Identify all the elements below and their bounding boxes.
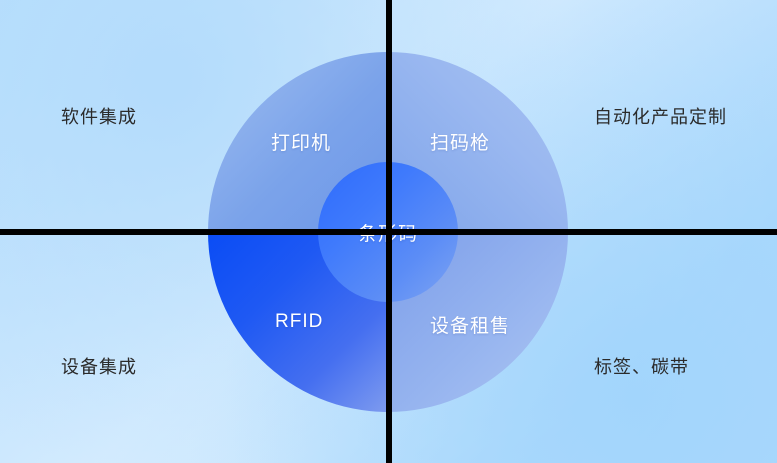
quadrant-label-printer: 打印机 (271, 128, 331, 155)
diagram-canvas: 条形码 打印机 扫码枪 RFID 设备租售 软件集成 自动化产品定制 设备集成 … (0, 0, 777, 463)
quadrant-label-equipment-rental: 设备租售 (430, 311, 510, 338)
quadrant-label-scanner: 扫码枪 (430, 128, 490, 155)
quadrant-label-rfid: RFID (275, 311, 323, 333)
outer-label-software-integration: 软件集成 (61, 103, 137, 129)
horizontal-axis-line (0, 229, 777, 235)
outer-label-automation-customization: 自动化产品定制 (594, 103, 727, 129)
outer-label-device-integration: 设备集成 (61, 353, 137, 379)
outer-label-labels-ribbons: 标签、碳带 (594, 353, 689, 379)
